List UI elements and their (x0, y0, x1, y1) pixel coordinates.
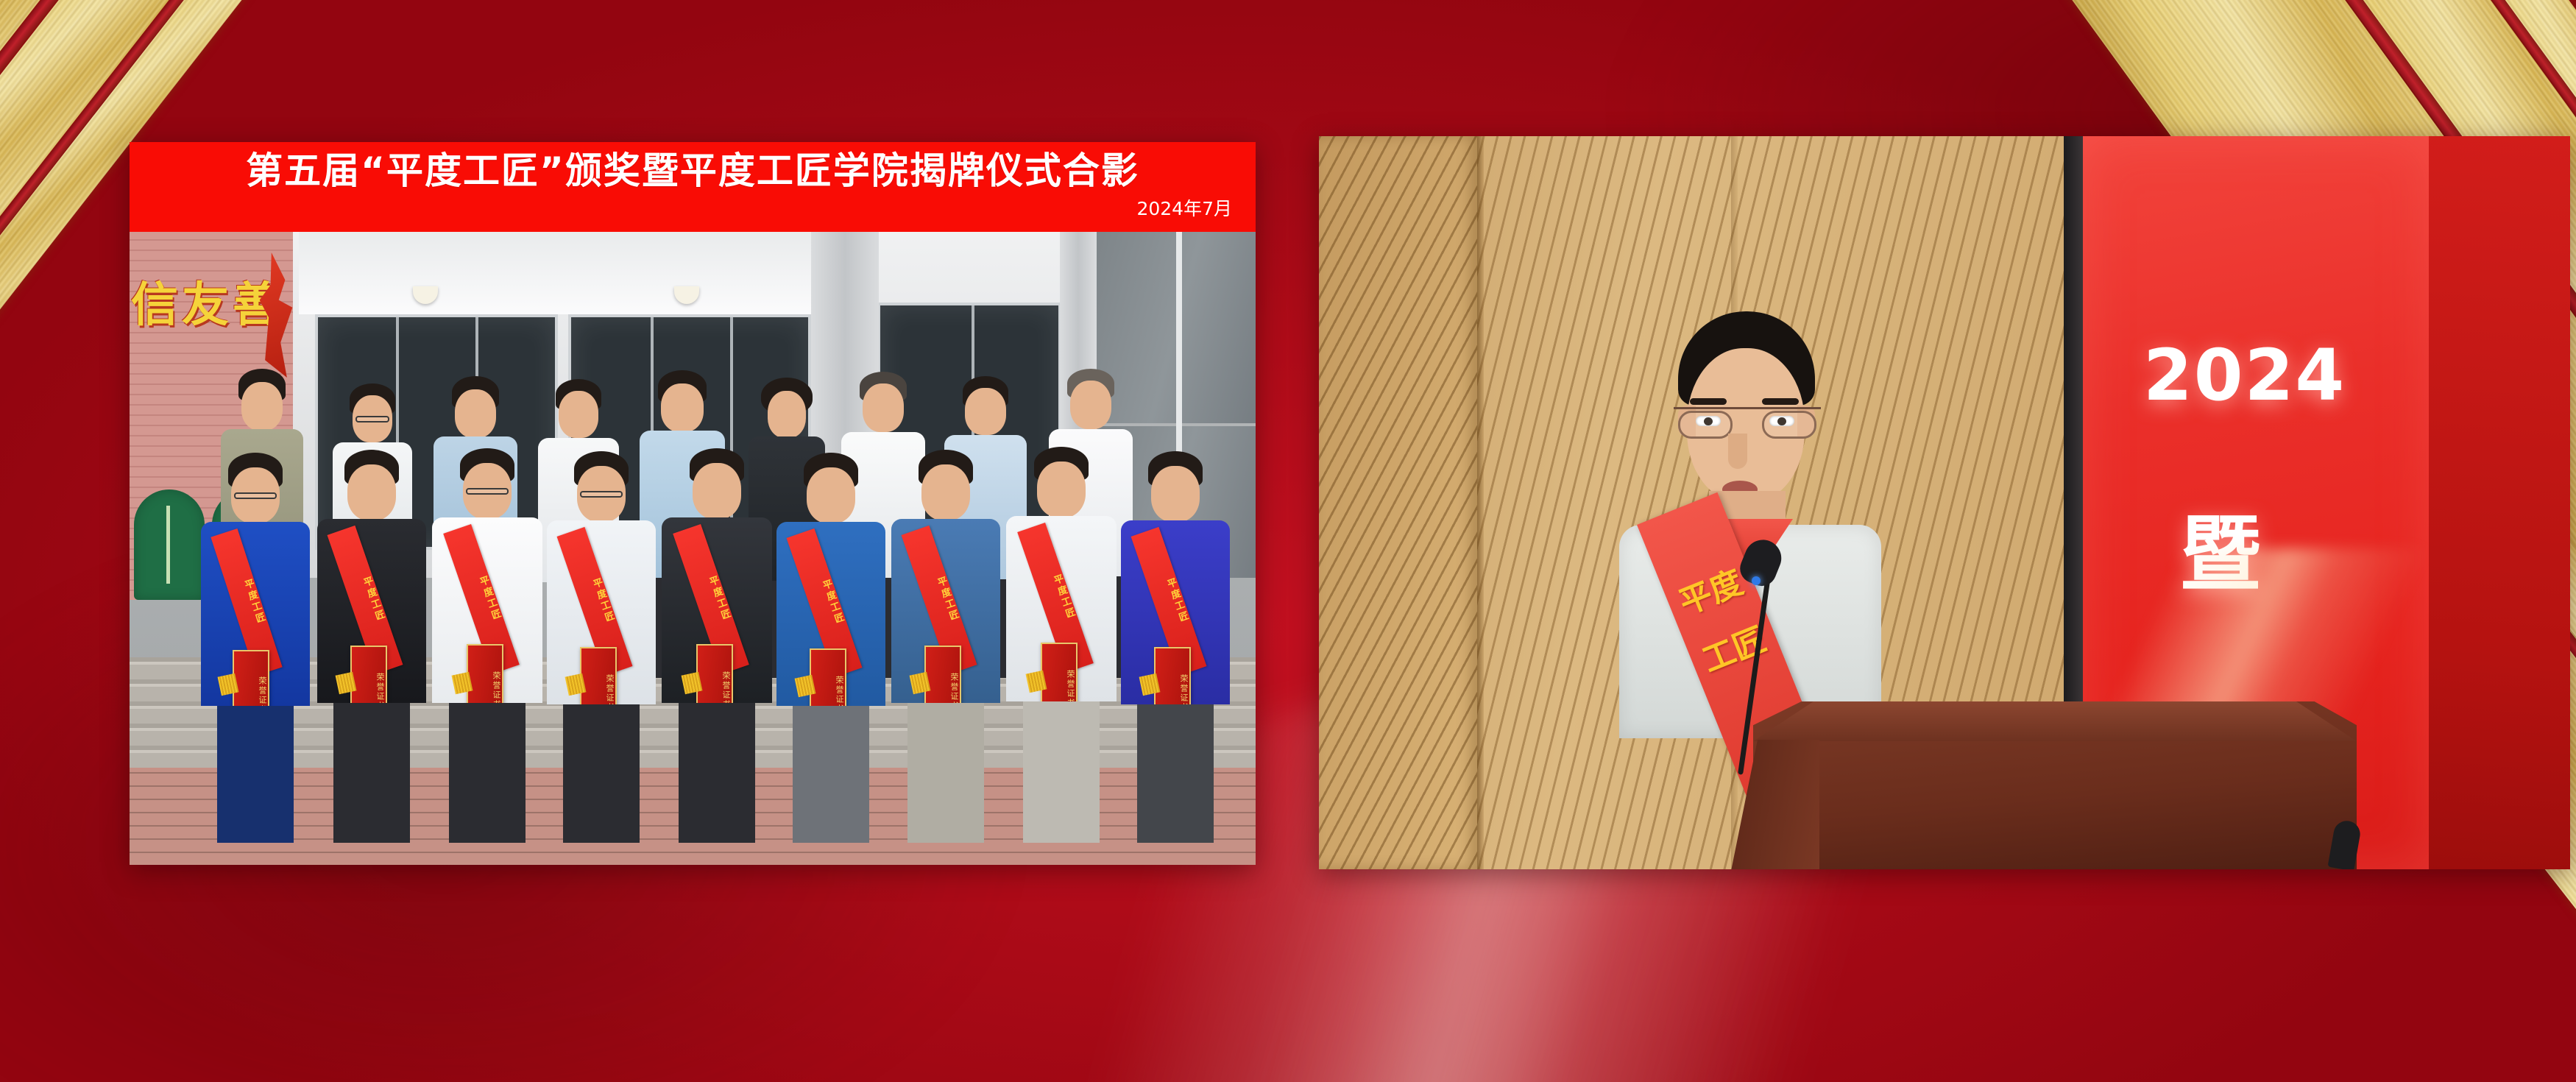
podium-top (1753, 701, 2357, 741)
sash-tassel (452, 672, 473, 694)
group-photo-image: 信友善 (130, 232, 1256, 865)
legs (793, 706, 869, 843)
building-canopy (299, 232, 858, 314)
legs (1023, 701, 1100, 843)
wall-seam (1477, 136, 1484, 869)
face (693, 463, 741, 519)
person-front-row: 平度工匠 荣誉证书 (316, 450, 427, 843)
speaker-photo-card: 2024 暨 平度工匠 (1319, 136, 2570, 869)
face (965, 388, 1006, 435)
face (241, 382, 283, 431)
shrub (134, 489, 205, 600)
microphone-indicator-light (1752, 576, 1761, 585)
eyeglasses (580, 491, 623, 498)
legs (679, 703, 755, 843)
legs (907, 703, 984, 843)
lens-left (1678, 411, 1733, 439)
photo-title: 第五届“平度工匠”颁奖暨平度工匠学院揭牌仪式合影 (130, 148, 1256, 194)
face (768, 391, 806, 438)
face (347, 464, 396, 520)
person-front-row: 平度工匠 荣誉证书 (776, 453, 886, 843)
face (1037, 462, 1086, 517)
sash-tassel (218, 673, 239, 696)
sash-tassel (795, 675, 816, 697)
lens-right (1762, 411, 1816, 439)
sash-tassel (910, 672, 931, 694)
photo-date: 2024年7月 (1136, 198, 1232, 220)
face (559, 391, 598, 438)
sash-tassel (336, 672, 357, 694)
person-front-row: 平度工匠 荣誉证书 (1005, 447, 1117, 843)
eyeglasses (355, 416, 389, 422)
legs (217, 706, 294, 843)
face (807, 467, 855, 523)
legs (449, 703, 526, 843)
sash-tassel (565, 673, 587, 696)
face (1151, 466, 1200, 522)
speaker-nose (1728, 434, 1747, 469)
backdrop-year-text: 2024 (2143, 339, 2346, 412)
sash-tassel (1026, 671, 1047, 693)
poster-stage: 第五届“平度工匠”颁奖暨平度工匠学院揭牌仪式合影 2024年7月 (0, 0, 2576, 1082)
legs (1137, 704, 1214, 843)
wood-slat-wall-side (1319, 136, 1477, 869)
speaker-eyebrow-left (1690, 398, 1727, 405)
photo-title-bar: 第五届“平度工匠”颁奖暨平度工匠学院揭牌仪式合影 2024年7月 (130, 142, 1256, 232)
person-front-row: 平度工匠 荣誉证书 (891, 450, 1001, 843)
backdrop-right-panel (2429, 136, 2570, 869)
face (661, 383, 704, 432)
face (1070, 381, 1111, 429)
speaker-eyebrow-right (1762, 398, 1799, 405)
eyeglasses (234, 492, 277, 499)
legs (563, 704, 640, 843)
person-front-row: 平度工匠 荣誉证书 (1120, 451, 1231, 843)
legs (333, 703, 410, 843)
person-front-row: 平度工匠 荣誉证书 (546, 451, 657, 843)
person-front-row: 平度工匠 荣誉证书 (661, 448, 773, 843)
eyeglasses (466, 488, 509, 495)
group-photo-card: 第五届“平度工匠”颁奖暨平度工匠学院揭牌仪式合影 2024年7月 (130, 142, 1256, 865)
face (863, 383, 904, 432)
sash-tassel (682, 672, 703, 694)
sash-tassel (1139, 673, 1161, 696)
face (455, 389, 496, 438)
speaker-photo-image: 2024 暨 平度工匠 (1319, 136, 2570, 869)
eyeglasses-icon (1674, 407, 1821, 439)
person-front-row: 平度工匠 荣誉证书 (200, 453, 311, 843)
face (921, 464, 970, 520)
person-front-row: 平度工匠 荣誉证书 (431, 448, 543, 843)
